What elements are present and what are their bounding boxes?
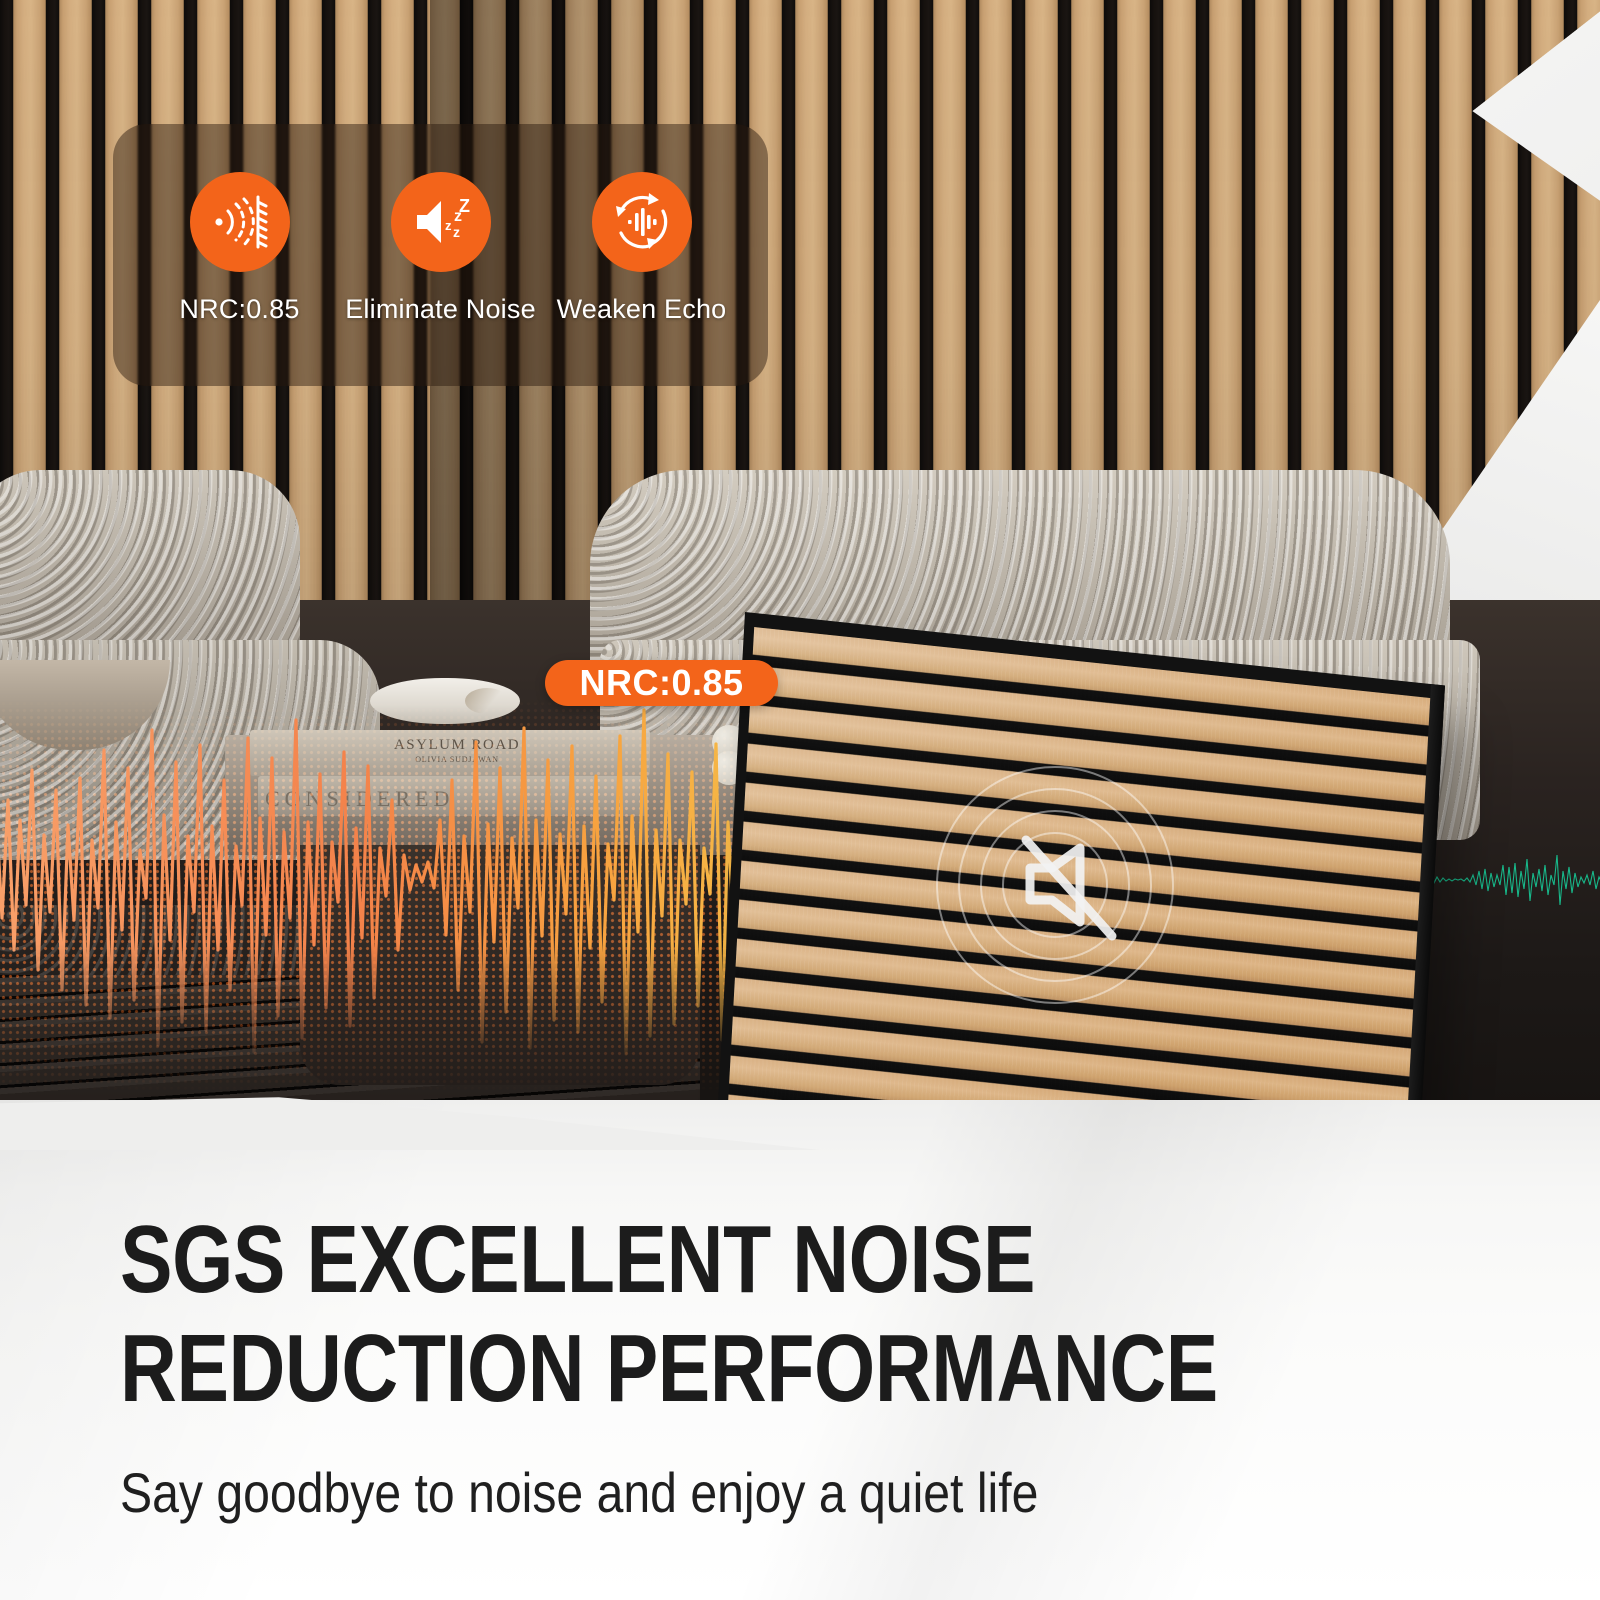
features-card: NRC:0.85 z z z Z bbox=[113, 124, 768, 386]
sound-absorb-icon-circle bbox=[190, 172, 290, 272]
page-subtitle: Say goodbye to noise and enjoy a quiet l… bbox=[120, 1460, 1324, 1525]
svg-text:Z: Z bbox=[459, 196, 470, 216]
echo-loop-waveform-icon-circle bbox=[592, 172, 692, 272]
feature-item-eliminate-noise[interactable]: z z z Z Eliminate Noise bbox=[346, 172, 536, 325]
room-scene-photo: ASYLUM ROAD OLIVIA SUDJAWAN CONSIDERED bbox=[0, 0, 1600, 1205]
muted-speaker-zzz-icon: z z z Z bbox=[409, 190, 473, 254]
loud-noise-waveform bbox=[0, 650, 800, 1070]
svg-text:z: z bbox=[453, 224, 460, 240]
feature-label-eliminate-noise: Eliminate Noise bbox=[345, 294, 536, 325]
feature-label-weaken-echo: Weaken Echo bbox=[557, 294, 727, 325]
feature-item-nrc[interactable]: NRC:0.85 bbox=[145, 172, 335, 325]
feature-label-nrc: NRC:0.85 bbox=[179, 294, 299, 325]
muted-speaker-icon bbox=[930, 760, 1180, 1010]
muted-speaker-zzz-icon-circle: z z z Z bbox=[391, 172, 491, 272]
nrc-badge: NRC:0.85 bbox=[545, 660, 778, 706]
sound-absorb-icon bbox=[208, 190, 272, 254]
product-marketing-image: ASYLUM ROAD OLIVIA SUDJAWAN CONSIDERED bbox=[0, 0, 1600, 1600]
feature-item-weaken-echo[interactable]: Weaken Echo bbox=[547, 172, 737, 325]
svg-text:z: z bbox=[445, 218, 452, 233]
features-row: NRC:0.85 z z z Z bbox=[113, 124, 768, 386]
page-title: SGS EXCELLENT NOISE REDUCTION PERFORMANC… bbox=[120, 1205, 1235, 1424]
echo-loop-waveform-icon bbox=[609, 189, 675, 255]
mute-overlay bbox=[925, 755, 1185, 1015]
